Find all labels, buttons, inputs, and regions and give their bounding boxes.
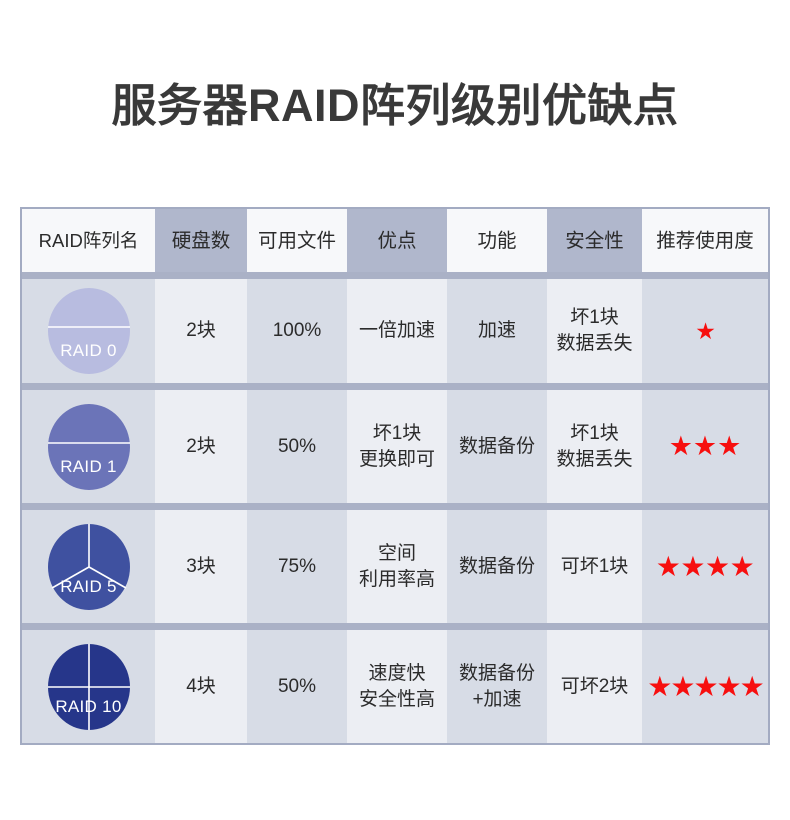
- star-rating: ★: [695, 318, 715, 345]
- raid-disc-graphic: RAID 1: [48, 404, 130, 490]
- header-feature: 功能: [447, 209, 547, 272]
- cell-available: 50%: [247, 630, 347, 743]
- star-rating: ★★★: [669, 433, 742, 460]
- table-row: RAID 5 3块 75% 空间 利用率高 数据备份 可坏1块 ★★★★: [22, 503, 768, 623]
- raid-disc-cell: RAID 5: [22, 510, 155, 623]
- star-rating: ★★★★: [656, 553, 754, 580]
- cell-available: 100%: [247, 279, 347, 383]
- page-root: 服务器RAID阵列级别优缺点 RAID阵列名 硬盘数 可用文件 优点 功能 安全…: [0, 0, 790, 820]
- raid-disc-graphic: RAID 0: [48, 288, 130, 374]
- table-header-row: RAID阵列名 硬盘数 可用文件 优点 功能 安全性 推荐使用度: [22, 209, 768, 272]
- disc-svg-4-part: [48, 644, 130, 730]
- raid-disc-graphic: RAID 5: [48, 524, 130, 610]
- cell-advantage: 坏1块 更换即可: [347, 390, 447, 503]
- cell-safety: 坏1块 数据丢失: [547, 390, 642, 503]
- disc-svg-2-part: [48, 288, 130, 374]
- raid-disc-cell: RAID 0: [22, 279, 155, 383]
- raid-disc-graphic: RAID 10: [48, 644, 130, 730]
- cell-feature: 数据备份: [447, 510, 547, 623]
- header-raid-name: RAID阵列名: [22, 209, 155, 272]
- raid-disc-cell: RAID 10: [22, 630, 155, 743]
- header-recommend: 推荐使用度: [642, 209, 768, 272]
- header-safety: 安全性: [547, 209, 642, 272]
- cell-feature: 加速: [447, 279, 547, 383]
- header-advantage: 优点: [347, 209, 447, 272]
- table-row: RAID 0 2块 100% 一倍加速 加速 坏1块 数据丢失 ★: [22, 272, 768, 383]
- cell-disk-count: 2块: [155, 390, 247, 503]
- cell-recommend: ★★★: [642, 390, 768, 503]
- raid-disc-cell: RAID 1: [22, 390, 155, 503]
- star-rating: ★★★★★: [647, 673, 763, 700]
- cell-recommend: ★: [642, 279, 768, 383]
- cell-disk-count: 4块: [155, 630, 247, 743]
- cell-available: 50%: [247, 390, 347, 503]
- cell-disk-count: 2块: [155, 279, 247, 383]
- disc-svg-2-part: [48, 404, 130, 490]
- cell-recommend: ★★★★: [642, 510, 768, 623]
- cell-recommend: ★★★★★: [642, 630, 768, 743]
- cell-advantage: 一倍加速: [347, 279, 447, 383]
- cell-feature: 数据备份: [447, 390, 547, 503]
- header-disk-count: 硬盘数: [155, 209, 247, 272]
- cell-disk-count: 3块: [155, 510, 247, 623]
- cell-feature: 数据备份 +加速: [447, 630, 547, 743]
- cell-advantage: 空间 利用率高: [347, 510, 447, 623]
- cell-advantage: 速度快 安全性高: [347, 630, 447, 743]
- disc-svg-3-part: [48, 524, 130, 610]
- header-available: 可用文件: [247, 209, 347, 272]
- cell-safety: 可坏2块: [547, 630, 642, 743]
- cell-safety: 坏1块 数据丢失: [547, 279, 642, 383]
- cell-available: 75%: [247, 510, 347, 623]
- table-row: RAID 1 2块 50% 坏1块 更换即可 数据备份 坏1块 数据丢失 ★★★: [22, 383, 768, 503]
- table-row: RAID 10 4块 50% 速度快 安全性高 数据备份 +加速 可坏2块 ★★…: [22, 623, 768, 743]
- page-title: 服务器RAID阵列级别优缺点: [0, 78, 790, 134]
- cell-safety: 可坏1块: [547, 510, 642, 623]
- raid-comparison-table: RAID阵列名 硬盘数 可用文件 优点 功能 安全性 推荐使用度 RAID 0 …: [20, 207, 770, 745]
